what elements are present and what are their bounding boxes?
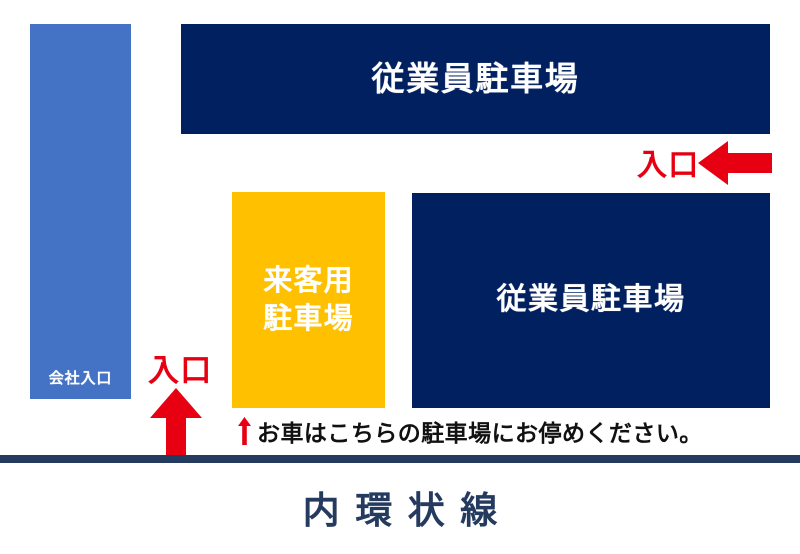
visitor-parking-lot-label: 来客用 駐車場 xyxy=(263,262,353,339)
entrance-up-arrow-icon xyxy=(150,388,202,462)
employee-parking-lot-right: 従業員駐車場 xyxy=(412,193,770,408)
company-entrance-bar: 会社入口 xyxy=(30,24,131,399)
employee-parking-lot-top-label: 従業員駐車場 xyxy=(372,60,580,98)
parking-notice: お車はこちらの駐車場にお停めください。 xyxy=(238,414,703,448)
entrance-label-right: 入口 xyxy=(637,140,699,184)
road-line xyxy=(0,455,800,463)
parking-map: 会社入口 従業員駐車場 来客用 駐車場 従業員駐車場 入口 入口 お車はこちらの… xyxy=(0,0,800,554)
entrance-label-bottom: 入口 xyxy=(148,345,212,390)
parking-notice-text: お車はこちらの駐車場にお停めください。 xyxy=(257,414,703,448)
employee-parking-lot-right-label: 従業員駐車場 xyxy=(497,283,686,318)
notice-up-arrow-icon xyxy=(238,417,251,445)
road-name-label: 内環状線 xyxy=(0,480,800,534)
entrance-left-arrow-icon xyxy=(698,141,772,185)
employee-parking-lot-top: 従業員駐車場 xyxy=(181,24,770,134)
company-entrance-label: 会社入口 xyxy=(49,370,113,387)
visitor-parking-lot: 来客用 駐車場 xyxy=(232,192,385,408)
